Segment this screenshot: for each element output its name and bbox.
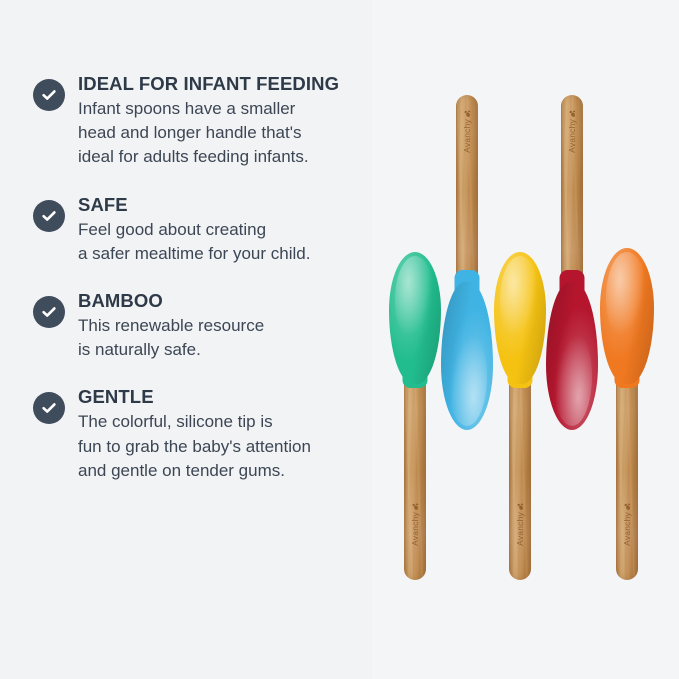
feature-description: Feel good about creating a safer mealtim…: [78, 218, 378, 266]
check-circle-icon: [33, 79, 65, 111]
bowl-highlight: [500, 256, 540, 344]
bowl-highlight: [552, 326, 592, 426]
feature-title: GENTLE: [78, 385, 378, 408]
check-circle-icon: [33, 392, 65, 424]
bamboo-handle: Avanchy: [456, 95, 478, 295]
brand-name-text: Avanchy: [411, 512, 420, 546]
avanchy-brand-engraving: Avanchy: [457, 109, 477, 153]
product-photo-spoons: AvanchyAvanchyAvanchyAvanchyAvanchy: [372, 0, 679, 679]
feature-description: Infant spoons have a smaller head and lo…: [78, 97, 378, 169]
spoon-orange: Avanchy: [594, 0, 660, 679]
brand-name-text: Avanchy: [516, 512, 525, 546]
bowl-highlight: [447, 326, 487, 426]
bamboo-handle: Avanchy: [404, 372, 426, 580]
bowl-highlight: [395, 256, 435, 344]
infographic-page: IDEAL FOR INFANT FEEDING Infant spoons h…: [0, 0, 679, 679]
avanchy-brand-engraving: Avanchy: [510, 502, 530, 546]
avanchy-brand-engraving: Avanchy: [617, 502, 637, 546]
silicone-bowl-orange: [600, 248, 654, 384]
avanchy-brand-engraving: Avanchy: [562, 109, 582, 153]
bamboo-handle: Avanchy: [509, 372, 531, 580]
brand-name-text: Avanchy: [463, 119, 472, 153]
brand-name-text: Avanchy: [568, 119, 577, 153]
feature-description: This renewable resource is naturally saf…: [78, 314, 378, 362]
check-circle-icon: [33, 200, 65, 232]
feature-item-safe: SAFE Feel good about creating a safer me…: [33, 193, 378, 266]
wood-grain-texture: [404, 372, 426, 580]
feature-item-ideal-for-infant-feeding: IDEAL FOR INFANT FEEDING Infant spoons h…: [33, 72, 378, 170]
bamboo-handle: Avanchy: [561, 95, 583, 295]
feature-list: IDEAL FOR INFANT FEEDING Infant spoons h…: [33, 72, 378, 506]
feature-item-bamboo: BAMBOO This renewable resource is natura…: [33, 289, 378, 362]
silicone-bowl-blue: [441, 282, 493, 430]
brand-name-text: Avanchy: [623, 512, 632, 546]
bamboo-handle: Avanchy: [616, 372, 638, 580]
feature-description: The colorful, silicone tip is fun to gra…: [78, 410, 378, 482]
feature-title: SAFE: [78, 193, 378, 216]
wood-grain-texture: [509, 372, 531, 580]
wood-grain-texture: [616, 372, 638, 580]
feature-title: IDEAL FOR INFANT FEEDING: [78, 72, 378, 95]
silicone-bowl-red: [546, 282, 598, 430]
feature-title: BAMBOO: [78, 289, 378, 312]
avanchy-brand-engraving: Avanchy: [405, 502, 425, 546]
check-circle-icon: [33, 296, 65, 328]
bowl-highlight: [606, 252, 648, 343]
feature-item-gentle: GENTLE The colorful, silicone tip is fun…: [33, 385, 378, 483]
